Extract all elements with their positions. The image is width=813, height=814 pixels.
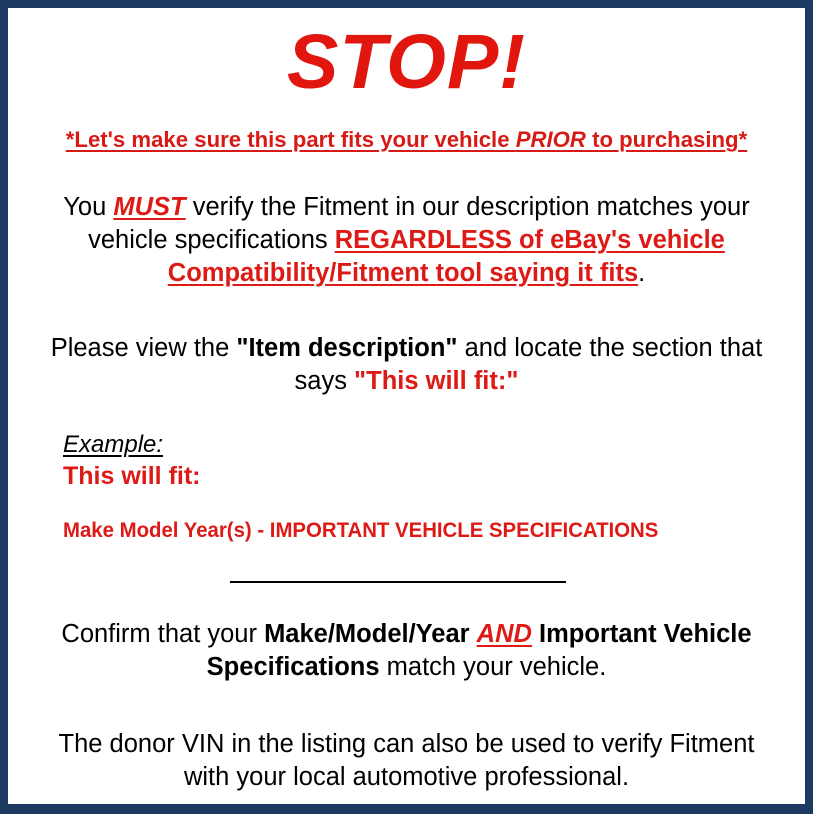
fitment-tagline: *Let's make sure this part fits your veh… bbox=[24, 127, 789, 153]
donor-vin-paragraph: The donor VIN in the listing can also be… bbox=[18, 728, 795, 794]
fitment-notice-card: STOP! *Let's make sure this part fits yo… bbox=[0, 0, 813, 814]
view-paragraph-part1: Please view the bbox=[51, 334, 237, 362]
example-fit-line: This will fit: bbox=[63, 461, 795, 492]
must-emphasis: MUST bbox=[113, 193, 185, 221]
must-paragraph-part1: You bbox=[63, 193, 113, 221]
stop-headline: STOP! bbox=[18, 24, 795, 101]
and-emphasis: AND bbox=[477, 620, 532, 648]
view-description-paragraph: Please view the "Item description" and l… bbox=[18, 332, 795, 398]
section-divider bbox=[230, 581, 566, 583]
example-spec-line: Make Model Year(s) - IMPORTANT VEHICLE S… bbox=[63, 518, 773, 543]
confirm-paragraph-part1: Confirm that your bbox=[61, 620, 264, 648]
this-will-fit-quote: "This will fit:" bbox=[354, 367, 518, 395]
tagline-prior-emphasis: PRIOR bbox=[516, 127, 586, 152]
make-model-year-emphasis: Make/Model/Year bbox=[264, 620, 470, 648]
notice-card-inner: STOP! *Let's make sure this part fits yo… bbox=[18, 24, 795, 814]
confirm-paragraph-part2: match your vehicle. bbox=[380, 653, 607, 681]
item-description-quote: "Item description" bbox=[236, 334, 457, 362]
confirm-paragraph: Confirm that your Make/Model/Year AND Im… bbox=[18, 618, 795, 684]
tagline-tail-text: to purchasing* bbox=[586, 127, 747, 152]
example-block: Example: This will fit: Make Model Year(… bbox=[18, 431, 795, 544]
example-label: Example: bbox=[63, 431, 795, 459]
must-verify-paragraph: You MUST verify the Fitment in our descr… bbox=[18, 191, 795, 290]
section-divider-wrap bbox=[18, 570, 795, 588]
tagline-lead-text: *Let's make sure this part fits your veh… bbox=[66, 127, 516, 152]
must-paragraph-part3: . bbox=[638, 259, 645, 287]
